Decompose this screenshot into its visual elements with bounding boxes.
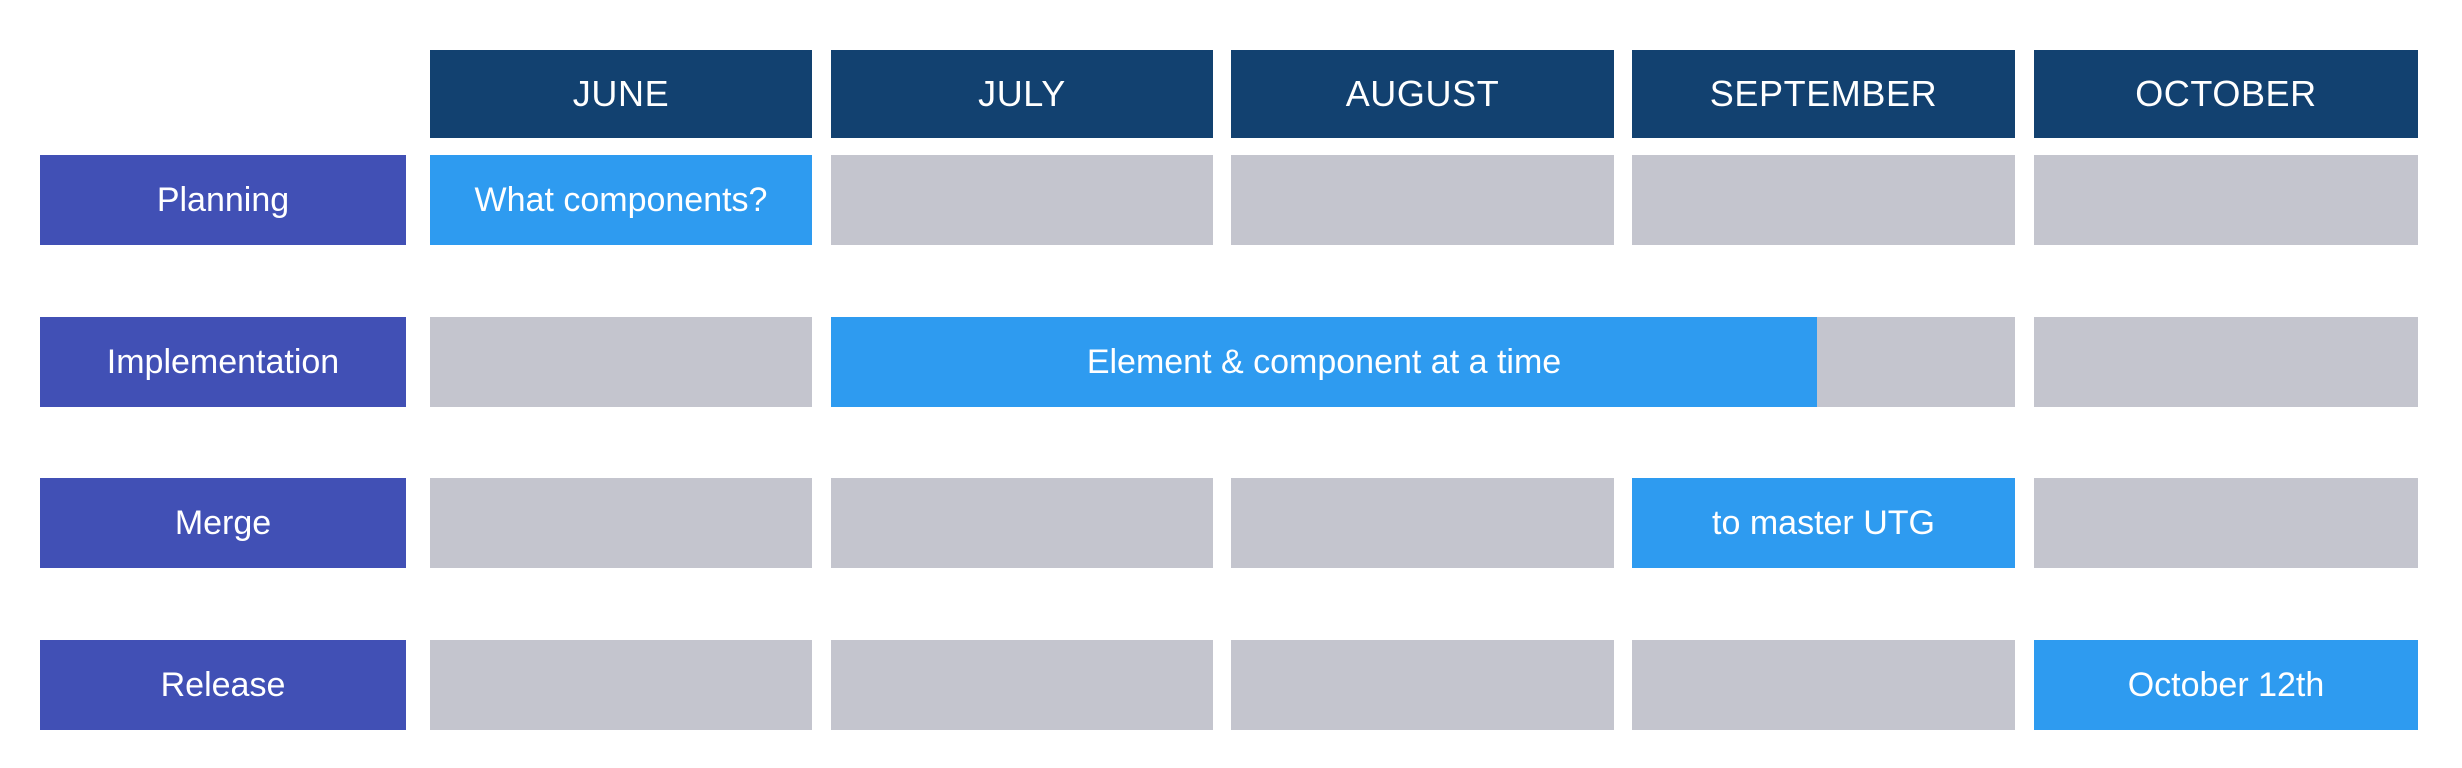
task-label-planning[interactable]: Planning [40,155,406,245]
month-header-august[interactable]: AUGUST [1231,50,1614,138]
month-header-label: AUGUST [1346,73,1500,115]
task-label-text: Planning [157,181,289,220]
cell-planning-september[interactable] [1632,155,2015,245]
month-header-label: JUNE [573,73,669,115]
task-label-merge[interactable]: Merge [40,478,406,568]
cell-label: October 12th [2120,668,2333,702]
task-bar-implementation[interactable]: Element & component at a time [831,317,1817,407]
cell-merge-august[interactable] [1231,478,1614,568]
month-header-september[interactable]: SEPTEMBER [1632,50,2015,138]
cell-release-july[interactable] [831,640,1213,730]
cell-planning-july[interactable] [831,155,1213,245]
task-label-release[interactable]: Release [40,640,406,730]
month-header-july[interactable]: JULY [831,50,1213,138]
task-bar-label: Element & component at a time [1079,345,1569,379]
month-header-label: SEPTEMBER [1710,73,1937,115]
task-label-text: Implementation [107,343,339,382]
cell-merge-june[interactable] [430,478,812,568]
cell-merge-october[interactable] [2034,478,2418,568]
cell-release-august[interactable] [1231,640,1614,730]
project-timeline-gantt: JUNEJULYAUGUSTSEPTEMBEROCTOBER PlanningW… [0,0,2462,768]
cell-release-october[interactable]: October 12th [2034,640,2418,730]
task-label-implementation[interactable]: Implementation [40,317,406,407]
month-header-june[interactable]: JUNE [430,50,812,138]
task-label-text: Merge [175,504,271,543]
cell-merge-july[interactable] [831,478,1213,568]
cell-merge-september[interactable]: to master UTG [1632,478,2015,568]
cell-implementation-october[interactable] [2034,317,2418,407]
month-header-october[interactable]: OCTOBER [2034,50,2418,138]
cell-planning-june[interactable]: What components? [430,155,812,245]
month-header-label: OCTOBER [2135,73,2317,115]
cell-planning-august[interactable] [1231,155,1614,245]
cell-label: What components? [467,183,776,217]
month-header-label: JULY [978,73,1066,115]
task-label-text: Release [161,666,286,705]
cell-implementation-june[interactable] [430,317,812,407]
cell-planning-october[interactable] [2034,155,2418,245]
cell-release-september[interactable] [1632,640,2015,730]
cell-label: to master UTG [1704,506,1943,540]
cell-release-june[interactable] [430,640,812,730]
